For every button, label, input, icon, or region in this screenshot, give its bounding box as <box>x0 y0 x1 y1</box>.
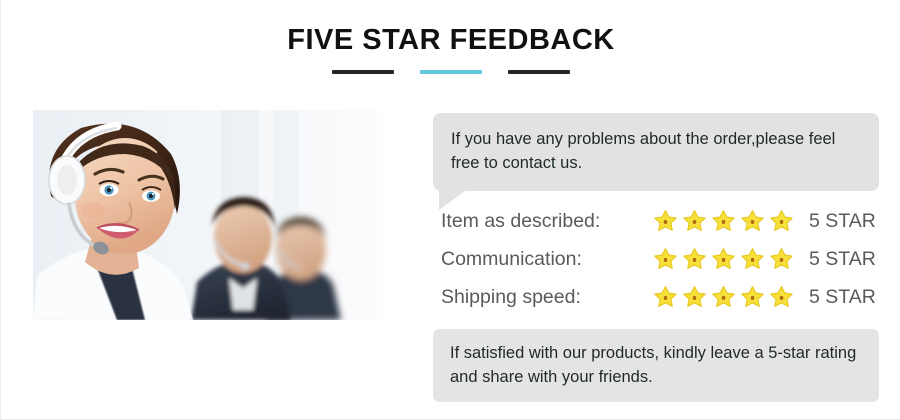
star-icon <box>682 247 707 272</box>
rating-row: Communication: 5 STAR <box>441 240 881 278</box>
contact-message-text: If you have any problems about the order… <box>451 130 835 172</box>
star-icon <box>769 209 794 234</box>
star-icon <box>653 247 678 272</box>
feedback-content: If you have any problems about the order… <box>433 110 879 390</box>
rating-value: 5 STAR <box>809 286 876 309</box>
star-icon <box>653 285 678 310</box>
star-rating <box>653 285 801 310</box>
feedback-banner: FIVE STAR FEEDBACK <box>0 0 900 420</box>
divider-center <box>420 70 482 74</box>
rating-row: Item as described: 5 STAR <box>441 202 881 240</box>
customer-service-photo <box>33 110 383 320</box>
star-icon <box>682 285 707 310</box>
rating-label: Item as described: <box>441 210 653 233</box>
star-icon <box>740 285 765 310</box>
rating-label: Shipping speed: <box>441 286 653 309</box>
rating-row: Shipping speed: 5 STAR <box>441 278 881 316</box>
star-icon <box>711 209 736 234</box>
page-title: FIVE STAR FEEDBACK <box>1 24 900 57</box>
star-icon <box>769 285 794 310</box>
divider-right <box>508 70 570 74</box>
rating-value: 5 STAR <box>809 210 876 233</box>
star-icon <box>711 247 736 272</box>
rating-request-note: If satisfied with our products, kindly l… <box>433 329 879 402</box>
divider-left <box>332 70 394 74</box>
star-icon <box>769 247 794 272</box>
rating-value: 5 STAR <box>809 248 876 271</box>
star-icon <box>711 285 736 310</box>
star-icon <box>740 209 765 234</box>
star-icon <box>682 209 707 234</box>
star-rating <box>653 247 801 272</box>
rating-request-text: If satisfied with our products, kindly l… <box>450 344 856 386</box>
star-icon <box>653 209 678 234</box>
rating-label: Communication: <box>441 248 653 271</box>
ratings-list: Item as described: 5 STAR Communication: <box>441 202 881 316</box>
contact-message-bubble: If you have any problems about the order… <box>433 113 879 191</box>
star-rating <box>653 209 801 234</box>
star-icon <box>740 247 765 272</box>
divider-group <box>1 70 900 74</box>
